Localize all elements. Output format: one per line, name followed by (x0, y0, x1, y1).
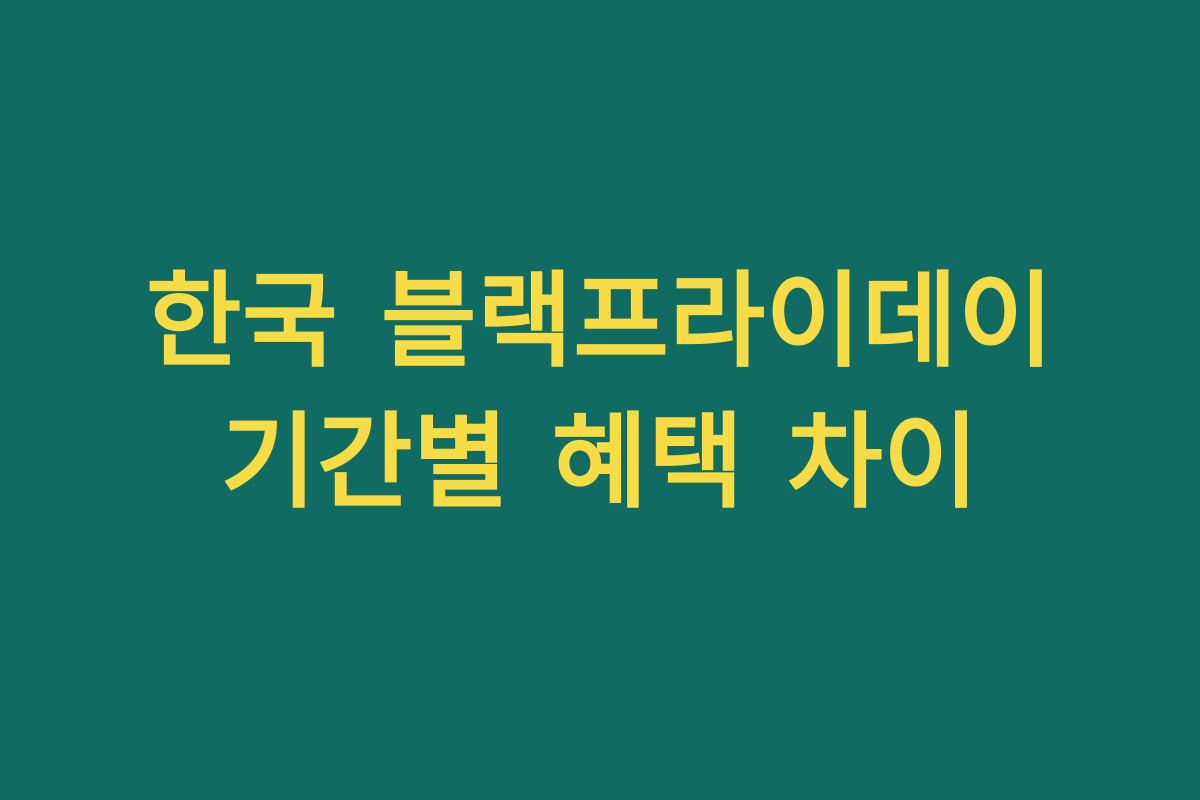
headline-title: 한국 블랙프라이데이 기간별 혜택 차이 (95, 251, 1105, 534)
headline-block: 한국 블랙프라이데이 기간별 혜택 차이 (95, 251, 1105, 534)
title-card: 한국 블랙프라이데이 기간별 혜택 차이 (0, 0, 1200, 800)
